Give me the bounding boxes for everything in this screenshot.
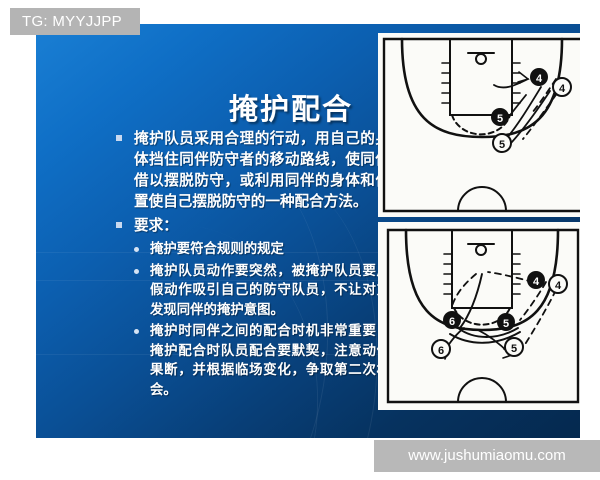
svg-text:5: 5	[503, 318, 509, 330]
bullet-text: 要求：	[134, 217, 178, 234]
svg-text:6: 6	[449, 316, 455, 328]
bullet-item: 要求：	[114, 215, 390, 236]
svg-text:4: 4	[555, 280, 562, 292]
basketball-court-diagram-bottom: 4 4 5 5 6 6	[378, 222, 580, 410]
player-marker-5-offense: 5	[491, 108, 509, 126]
svg-text:5: 5	[511, 343, 517, 355]
round-bullet-icon	[134, 269, 139, 274]
player-marker-6-offense: 6	[443, 311, 461, 329]
sub-bullet-list: 掩护要符合规则的规定 掩护队员动作要突然，被掩护队员要用假动作吸引自己的防守队员…	[114, 240, 390, 400]
svg-text:6: 6	[438, 345, 444, 357]
sub-bullet-item: 掩护时同伴之间的配合时机非常重要，掩护配合时队员配合要默契，注意动作果断，并根据…	[114, 322, 390, 400]
bullet-text: 掩护队员采用合理的行动，用自己的身体挡住同伴防守者的移动路线，使同伴借以摆脱防守…	[134, 130, 390, 210]
player-marker-5-defense: 5	[493, 134, 511, 152]
sub-bullet-text: 掩护时同伴之间的配合时机非常重要，掩护配合时队员配合要默契，注意动作果断，并根据…	[150, 323, 390, 398]
sub-bullet-text: 掩护队员动作要突然，被掩护队员要用假动作吸引自己的防守队员，不让对方发现同伴的掩…	[150, 263, 390, 318]
basketball-court-diagram-top: 4 4 5 5	[378, 33, 580, 217]
sub-bullet-item: 掩护要符合规则的规定	[114, 240, 390, 260]
sub-bullet-text: 掩护要符合规则的规定	[150, 241, 284, 257]
svg-text:4: 4	[533, 276, 540, 288]
round-bullet-icon	[134, 247, 139, 252]
player-marker-4-offense: 4	[530, 68, 548, 86]
player-marker-4-defense: 4	[549, 275, 567, 293]
square-bullet-icon	[116, 135, 122, 141]
svg-text:5: 5	[497, 113, 503, 125]
player-marker-4-defense: 4	[553, 78, 571, 96]
round-bullet-icon	[134, 329, 139, 334]
player-marker-4-offense: 4	[527, 271, 545, 289]
svg-text:4: 4	[536, 73, 543, 85]
svg-text:5: 5	[499, 139, 505, 151]
bullet-item: 掩护队员采用合理的行动，用自己的身体挡住同伴防守者的移动路线，使同伴借以摆脱防守…	[114, 128, 390, 212]
slide-body: 掩护队员采用合理的行动，用自己的身体挡住同伴防守者的移动路线，使同伴借以摆脱防守…	[114, 128, 390, 402]
presentation-slide: 掩护配合 掩护队员采用合理的行动，用自己的身体挡住同伴防守者的移动路线，使同伴借…	[36, 24, 580, 438]
tag-badge: TG: MYYJJPP	[10, 8, 140, 35]
player-marker-5-defense: 5	[505, 338, 523, 356]
site-watermark: www.jushumiaomu.com	[374, 440, 600, 472]
square-bullet-icon	[116, 222, 122, 228]
sub-bullet-item: 掩护队员动作要突然，被掩护队员要用假动作吸引自己的防守队员，不让对方发现同伴的掩…	[114, 262, 390, 321]
player-marker-6-defense: 6	[432, 340, 450, 358]
player-marker-5-offense: 5	[497, 313, 515, 331]
svg-text:4: 4	[559, 83, 566, 95]
